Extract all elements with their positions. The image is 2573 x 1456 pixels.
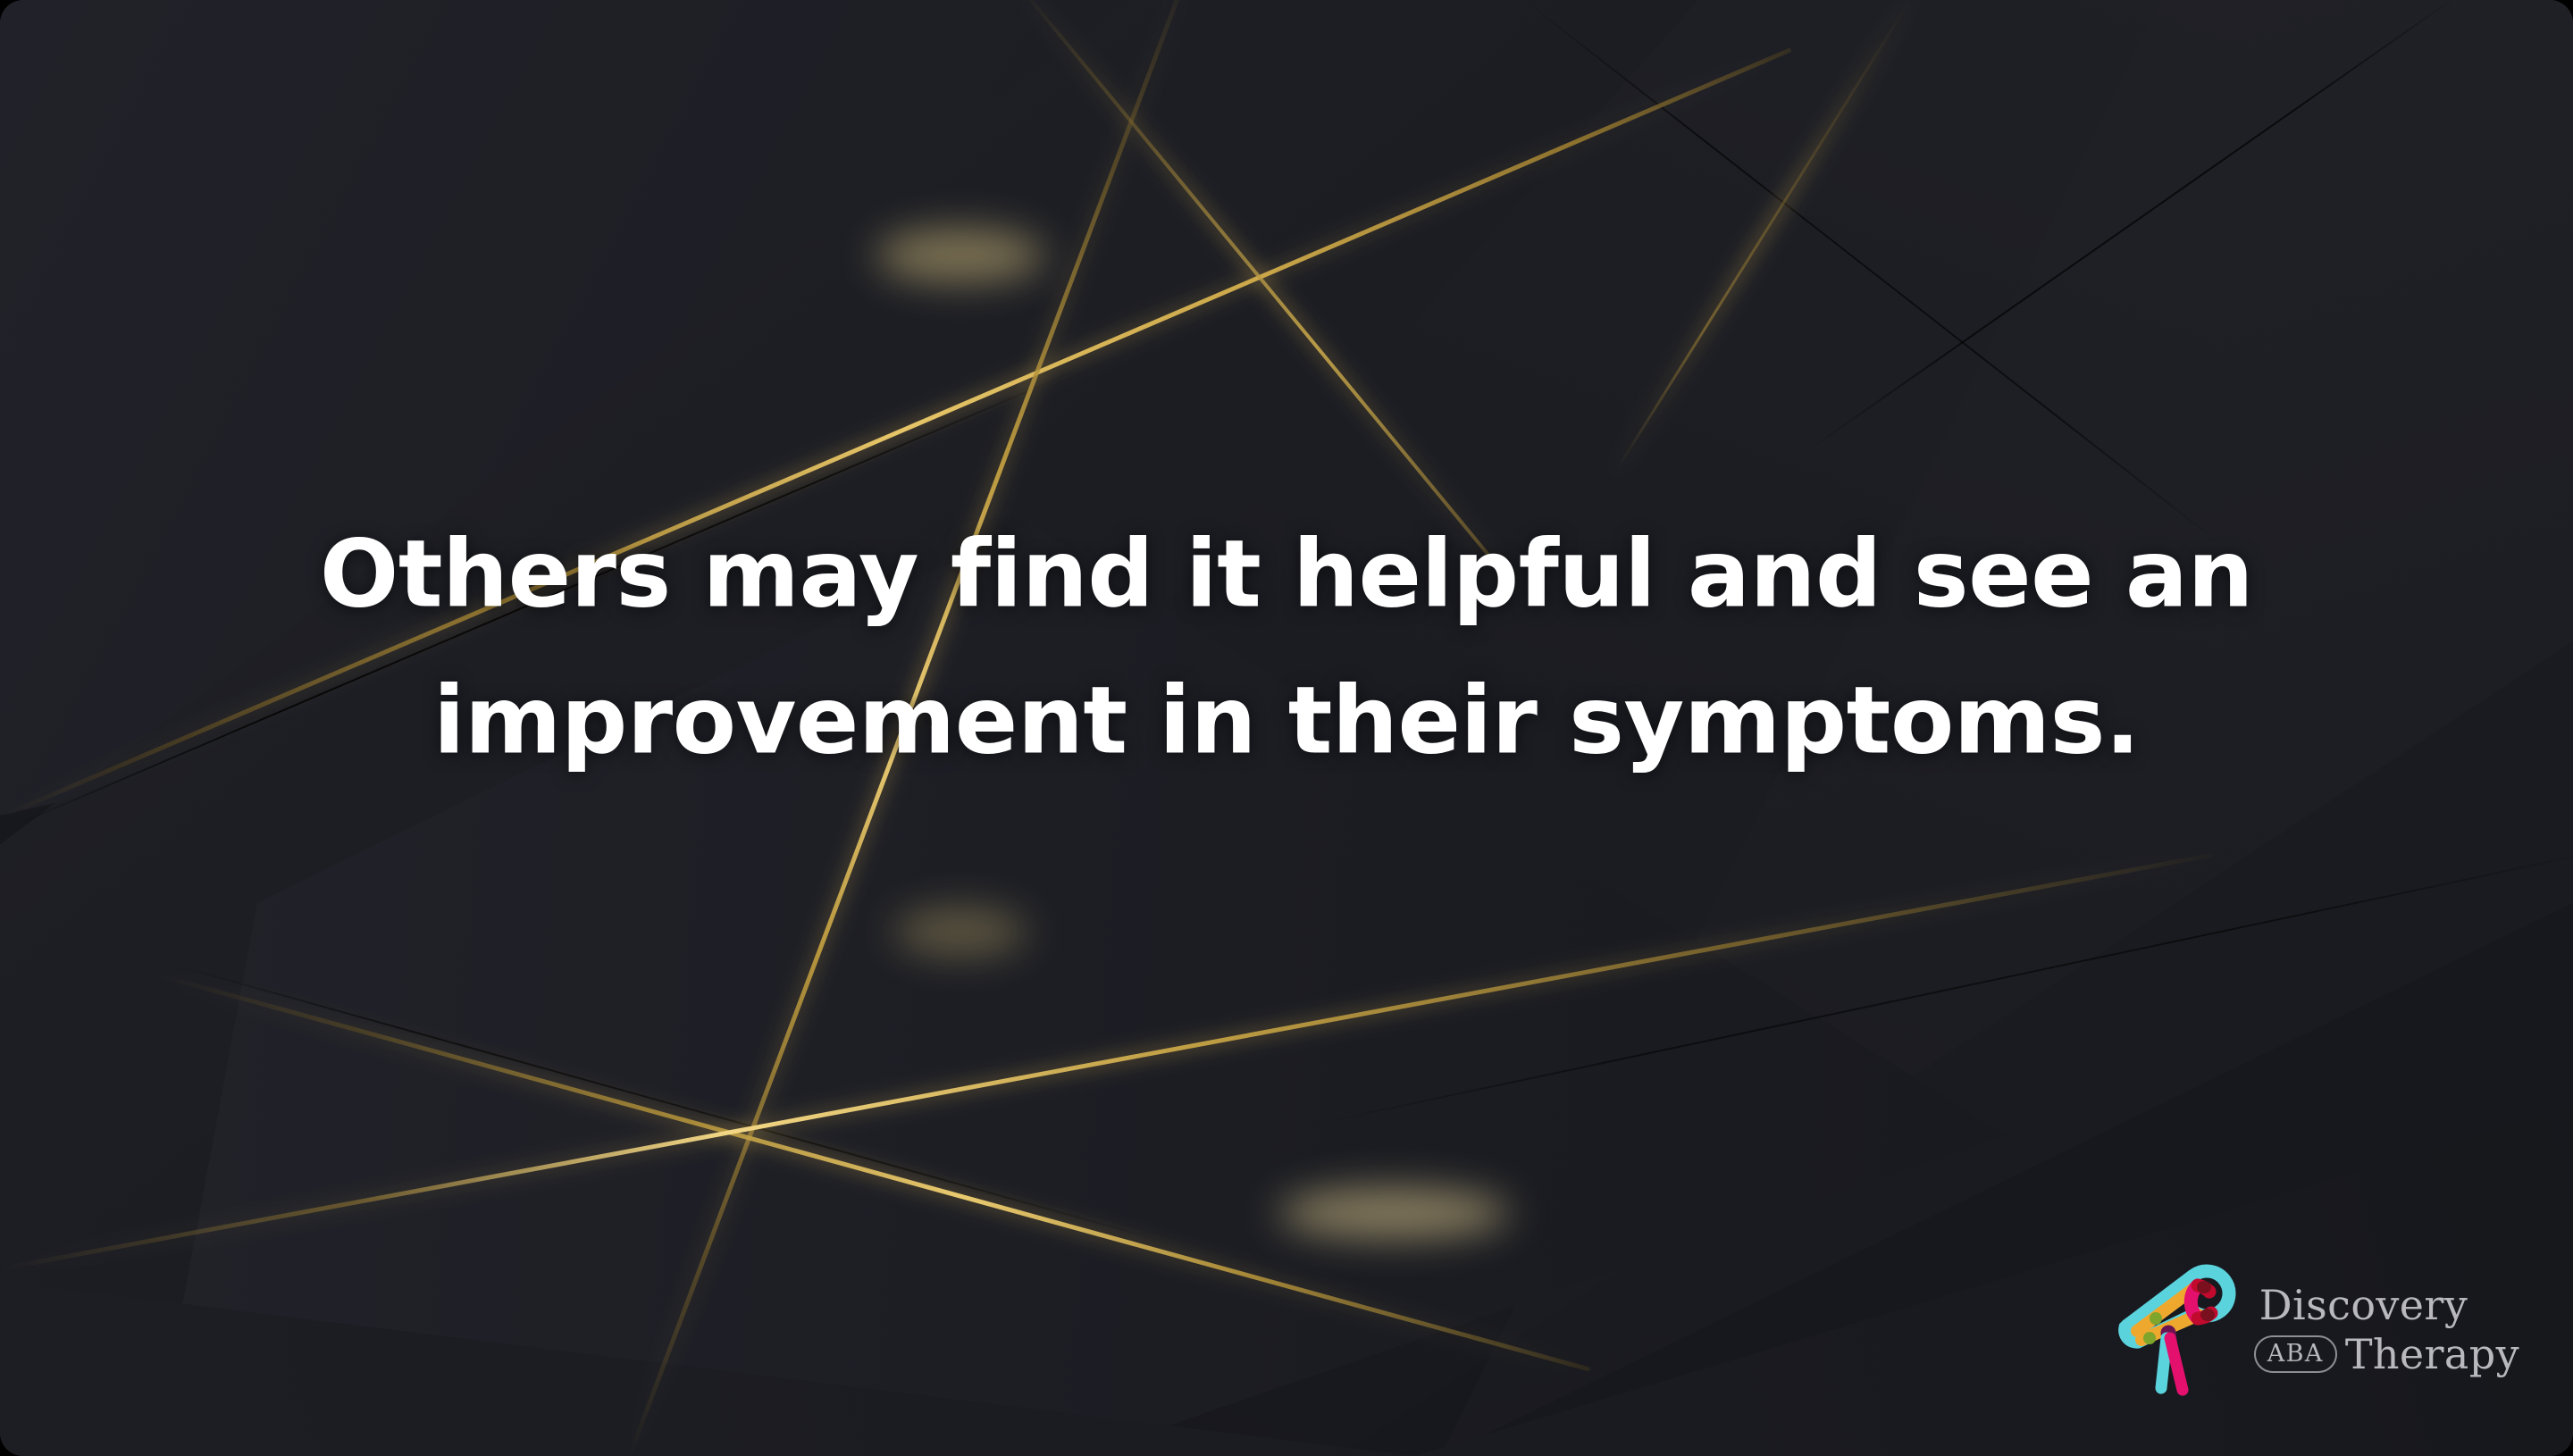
quote-slide: Others may find it helpful and see an im… — [0, 0, 2573, 1456]
gold-glow-bottom — [1278, 1188, 1510, 1238]
aba-badge: ABA — [2254, 1335, 2337, 1373]
gold-glow-mid — [893, 908, 1027, 956]
telescope-icon — [2108, 1256, 2242, 1402]
brand-logo[interactable]: Discovery ABA Therapy — [2108, 1256, 2519, 1402]
crease-right-diagonal — [1806, 0, 2466, 452]
logo-word-discovery: Discovery — [2254, 1284, 2519, 1326]
crease-top-center — [1518, 0, 2223, 546]
logo-wordmark: Discovery ABA Therapy — [2254, 1284, 2519, 1375]
gold-line-top-right — [1616, 0, 1912, 470]
gold-line-bottom — [0, 852, 2214, 1270]
crease-bottom-right — [1304, 847, 2573, 1127]
crease-mid-left — [169, 963, 1168, 1243]
gold-glow-upper — [876, 229, 1045, 282]
logo-second-row: ABA Therapy — [2254, 1334, 2519, 1375]
gold-line-lower-left — [160, 974, 1591, 1372]
logo-word-therapy: Therapy — [2345, 1334, 2519, 1375]
quote-text: Others may find it helpful and see an im… — [268, 501, 2305, 795]
